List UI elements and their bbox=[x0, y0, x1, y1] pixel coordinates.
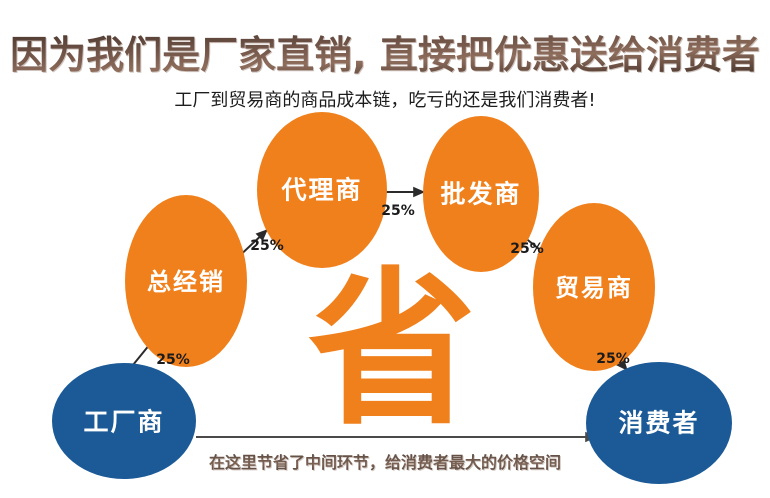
supply-chain-diagram: 省 总经销 代理商 批发商 贸易商 工厂商 消费者 bbox=[0, 0, 770, 498]
percent-distributor-to-agent: 25% bbox=[250, 238, 284, 254]
node-label-factory: 工厂商 bbox=[83, 408, 164, 437]
percent-wholesaler-to-trader: 25% bbox=[510, 241, 544, 257]
promo-flow-banner: 因为我们是厂家直销, 直接把优惠送给消费者 工厂到贸易商的商品成本链，吃亏的还是… bbox=[0, 0, 770, 498]
node-label-agent: 代理商 bbox=[280, 176, 362, 205]
footer-caption: 在这里节省了中间环节，给消费者最大的价格空间 bbox=[0, 450, 770, 476]
node-label-trader: 贸易商 bbox=[555, 274, 633, 302]
node-label-distributor: 总经销 bbox=[147, 268, 225, 296]
node-label-consumer: 消费者 bbox=[618, 409, 699, 438]
percent-trader-to-consumer: 25% bbox=[596, 351, 630, 367]
percent-factory-to-distributor: 25% bbox=[156, 352, 190, 368]
center-save-character: 省 bbox=[308, 252, 476, 448]
percent-agent-to-wholesaler: 25% bbox=[381, 203, 415, 219]
node-label-wholesaler: 批发商 bbox=[440, 180, 521, 209]
